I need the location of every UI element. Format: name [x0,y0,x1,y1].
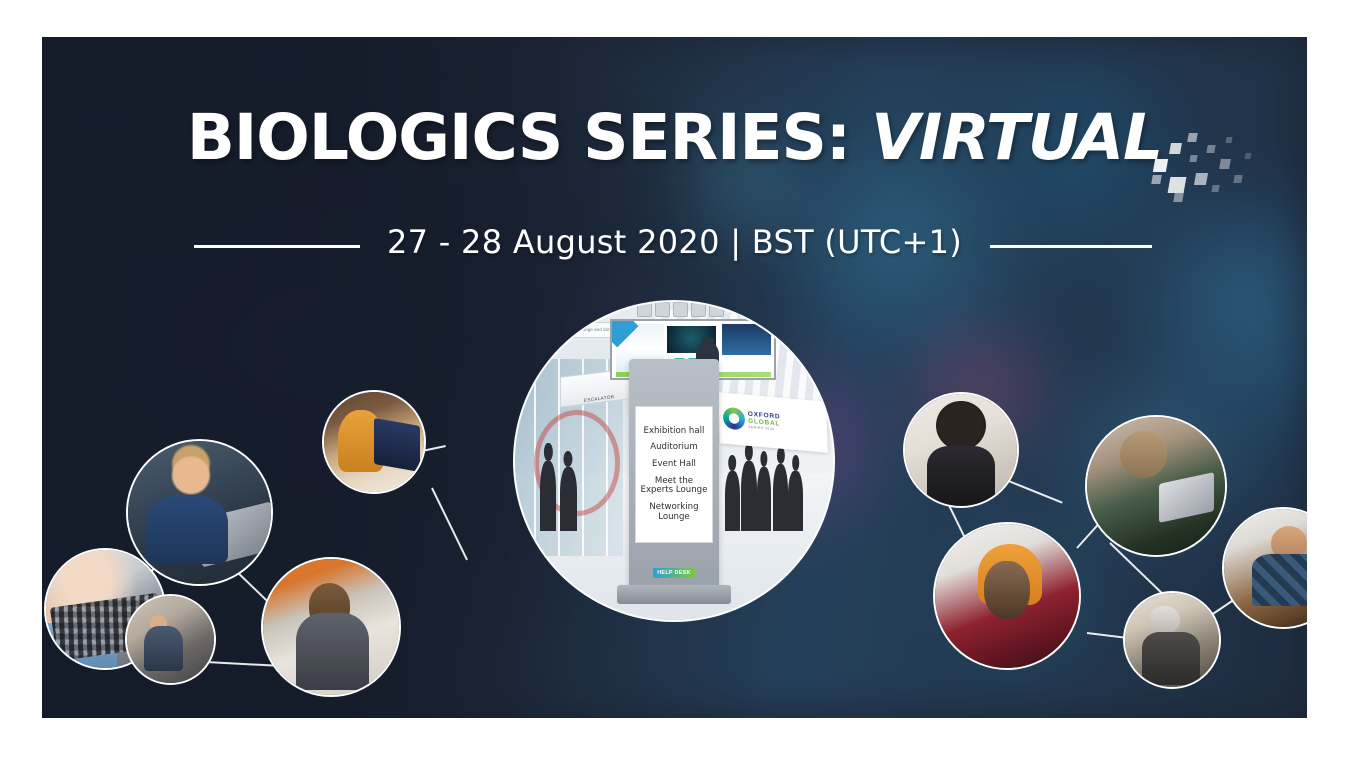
kiosk-menu-item-auditorium[interactable]: Auditorium [650,443,698,453]
search-icon[interactable] [637,302,652,317]
attendee-photo [324,392,424,492]
node-woman-afro-laptop[interactable] [903,392,1019,508]
lobby-toolbar[interactable] [591,300,769,319]
node-bearded-man-desk[interactable] [1222,507,1307,629]
visitor-silhouette [560,467,577,531]
node-man-blue-shirt-laptop[interactable] [126,439,273,586]
title-main-text: BIOLOGICS SERIES: [187,101,871,174]
visitor-silhouette [773,464,789,531]
attendee-photo [1087,417,1225,555]
presentation-slide: BIOLOGICS SERIES: VIRTUAL 27 - 28 August… [42,37,1307,718]
kiosk-menu-item-event-hall[interactable]: Event Hall [652,460,696,470]
attendee-photo [935,524,1079,668]
visitor-silhouette [788,471,803,531]
node-woman-grey-blazer-laptop[interactable] [261,557,401,697]
more-icon[interactable] [709,302,724,317]
attendee-photo [128,441,271,584]
slide-title: BIOLOGICS SERIES: VIRTUAL [42,101,1307,174]
slide-subtitle-text: 27 - 28 August 2020 | BST (UTC+1) [42,223,1307,261]
user-icon[interactable] [691,302,706,317]
node-woman-at-desk-laptop[interactable] [322,390,426,494]
node-woman-orange-headphones[interactable] [933,522,1081,670]
oxford-global-mark-icon [722,407,745,431]
attendee-photo [1125,593,1219,687]
kiosk-menu-item-networking-lounge[interactable]: Networking Lounge [649,503,698,522]
kiosk-menu-item-meet-the-experts-lounge[interactable]: Meet the Experts Lounge [641,477,708,496]
kiosk-menu-item-exhibition-hall[interactable]: Exhibition hall [644,427,705,437]
visitor-silhouette [540,461,556,531]
attendee-photo [905,394,1017,506]
attendee-photo [127,596,214,683]
kiosk-menu-screen[interactable]: Exhibition hall Auditorium Event Hall Me… [635,406,713,542]
display-panel-right [722,324,770,356]
attendee-photo [263,559,399,695]
node-woman-in-chair-laptop[interactable] [1085,415,1227,557]
oxford-global-wordmark: OXFORD GLOBAL SERIES 2020 [747,412,780,432]
visitor-silhouette [741,461,757,531]
visitor-silhouette [757,467,771,531]
visitor-silhouette [725,471,740,531]
document-icon[interactable] [655,302,670,317]
inbox-icon[interactable] [673,302,688,317]
kiosk-base [617,585,731,604]
pixel-dissolve-decoration [1150,129,1270,219]
virtual-lobby-preview[interactable]: ESCALATOR in the lounge and don't know p… [513,300,835,622]
node-older-man-reading[interactable] [1123,591,1221,689]
slide-subtitle-row: 27 - 28 August 2020 | BST (UTC+1) [42,223,1307,269]
attendee-photo [1224,509,1307,627]
title-emphasis-text: VIRTUAL [871,101,1162,174]
oxford-global-logo: OXFORD GLOBAL SERIES 2020 [718,393,828,454]
lobby-navigation-kiosk[interactable]: Exhibition hall Auditorium Event Hall Me… [629,359,718,594]
node-man-on-sofa-laptop[interactable] [125,594,216,685]
help-desk-button[interactable]: HELP DESK [653,568,696,578]
